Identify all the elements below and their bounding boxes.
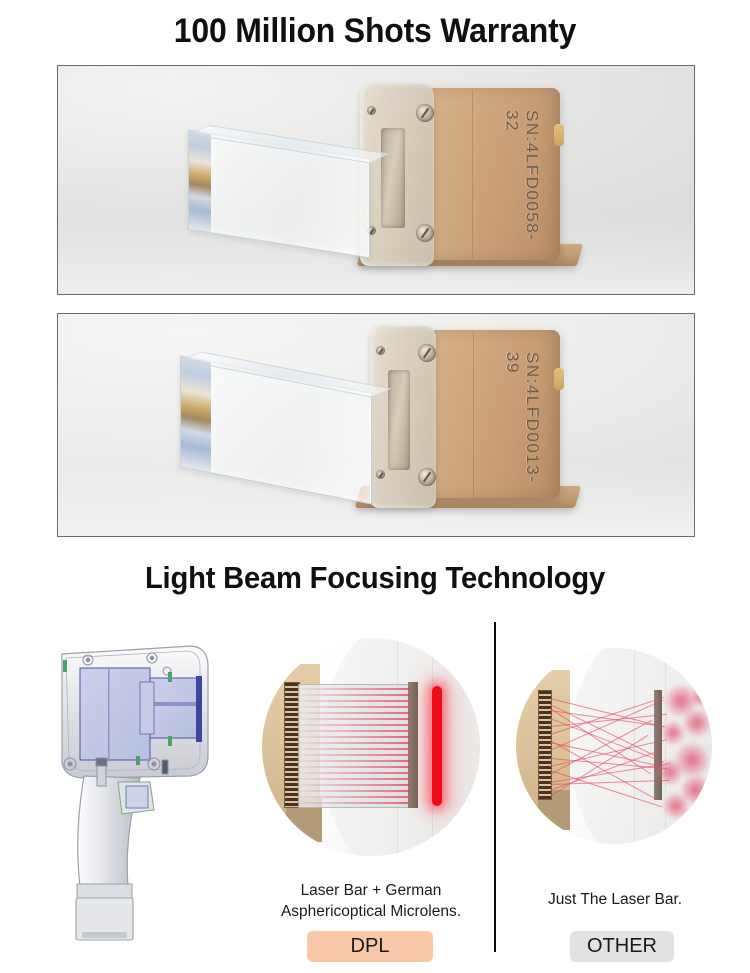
bracket-screw: [418, 344, 436, 362]
module-gold-housing: SN:4LFD0013-39: [430, 330, 560, 498]
trigger-connector: [118, 782, 154, 814]
handpiece-cutaway-diagram: [22, 636, 247, 956]
badge-other: OTHER: [570, 931, 674, 962]
module-side-knob: [554, 124, 564, 146]
skin-contour-line: [665, 648, 666, 844]
module-side-knob: [554, 368, 564, 390]
glass-coated-edge: [181, 357, 211, 473]
caption-dpl: Laser Bar + German Asphericoptical Micro…: [232, 880, 510, 922]
laser-module-photo-1: SN:4LFD0058-32: [57, 65, 695, 295]
page-title-focusing: Light Beam Focusing Technology: [23, 559, 728, 597]
page-title-warranty: 100 Million Shots Warranty: [23, 11, 728, 51]
laser-module-photo-2: SN:4LFD0013-39: [57, 313, 695, 537]
serial-number-label: SN:4LFD0013-39: [502, 352, 542, 498]
caption-dpl-line-1: Laser Bar + German: [232, 880, 510, 901]
caption-other: Just The Laser Bar.: [512, 889, 718, 910]
module-optical-slot: [381, 128, 405, 228]
module-optical-slot: [388, 370, 410, 470]
beam-exit-aperture: [654, 690, 662, 800]
focused-beam-line: [432, 686, 442, 806]
module-gold-housing: SN:4LFD0058-32: [428, 88, 560, 260]
collimated-beam-illustration: [262, 638, 480, 856]
scattered-beam-illustration: [516, 648, 712, 844]
serial-number-label: SN:4LFD0058-32: [502, 110, 542, 260]
laser-bar-element: [196, 676, 202, 742]
bracket-screw: [418, 468, 436, 486]
bracket-screw: [416, 224, 434, 242]
bracket-screw-small: [376, 346, 385, 355]
caption-dpl-line-2: Asphericoptical Microlens.: [232, 901, 510, 922]
bracket-screw: [416, 104, 434, 122]
bracket-screw-small: [367, 106, 376, 115]
glass-coated-edge: [189, 131, 211, 232]
caption-other-line-1: Just The Laser Bar.: [512, 889, 718, 910]
product-feature-page: 100 Million Shots Warranty SN:4LFD0058-3…: [0, 0, 750, 973]
badge-dpl: DPL: [307, 931, 433, 962]
bracket-screw-small: [376, 470, 385, 479]
